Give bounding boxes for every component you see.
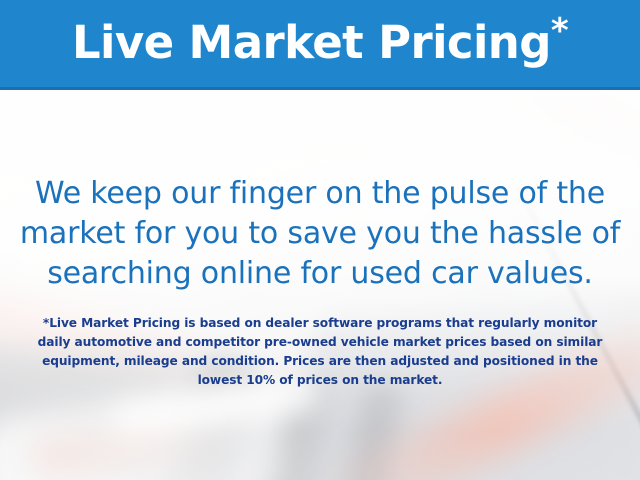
header-bar: Live Market Pricing*	[0, 0, 640, 90]
disclaimer-text: *Live Market Pricing is based on dealer …	[22, 314, 618, 390]
live-market-pricing-banner: Live Market Pricing* We keep our finger …	[0, 0, 640, 480]
disclaimer-line-4: lowest 10% of prices on the market.	[22, 371, 618, 390]
page-title-asterisk: *	[551, 11, 568, 51]
headline-line-2: market for you to save you the hassle of	[0, 214, 640, 254]
page-title: Live Market Pricing*	[72, 20, 568, 68]
disclaimer-line-1: *Live Market Pricing is based on dealer …	[22, 314, 618, 333]
headline-line-1: We keep our finger on the pulse of the	[0, 174, 640, 214]
disclaimer-line-2: daily automotive and competitor pre-owne…	[22, 333, 618, 352]
headline-text: We keep our finger on the pulse of the m…	[0, 174, 640, 294]
page-title-text: Live Market Pricing	[72, 16, 551, 69]
content-area: We keep our finger on the pulse of the m…	[0, 90, 640, 480]
headline-line-3: searching online for used car values.	[0, 254, 640, 294]
disclaimer-line-3: equipment, mileage and condition. Prices…	[22, 352, 618, 371]
